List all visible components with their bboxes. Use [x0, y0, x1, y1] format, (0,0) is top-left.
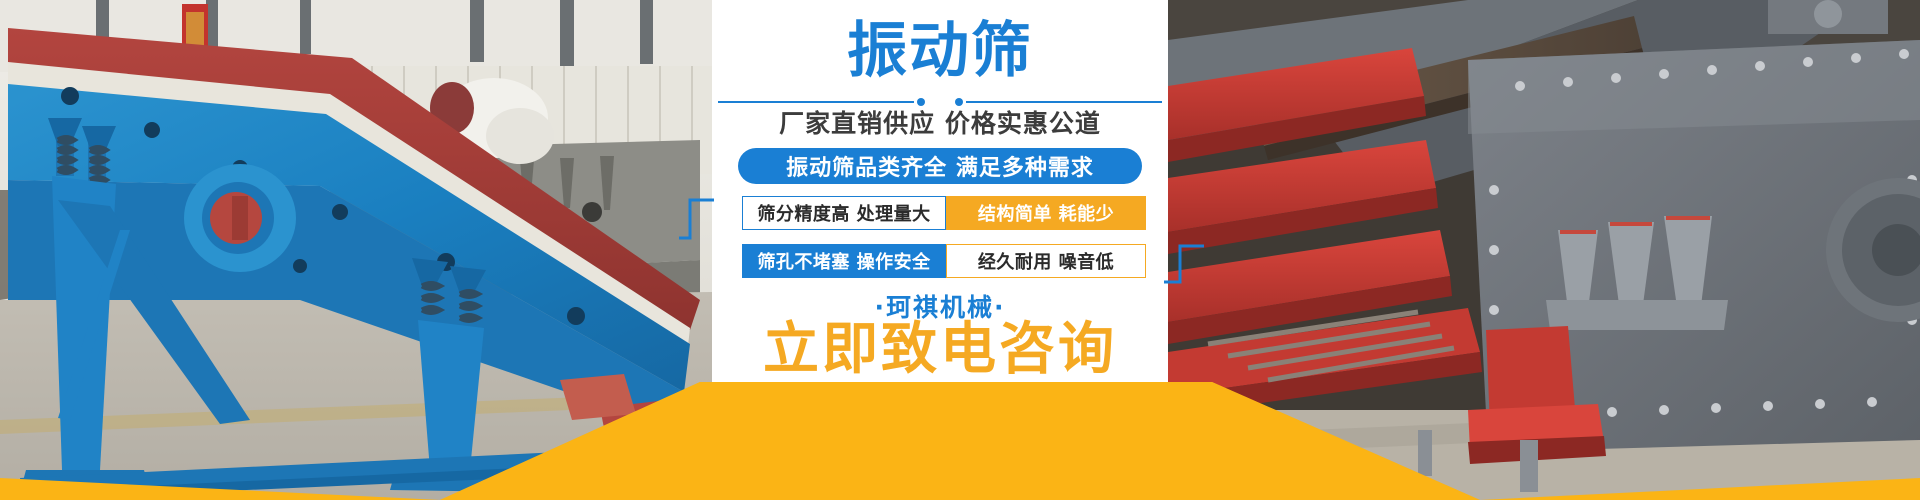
cta-text: 立即致电咨询 — [712, 318, 1168, 380]
banner-title: 振动筛 — [712, 18, 1168, 84]
promo-banner: 振动筛 厂家直销供应 价格实惠公道 振动筛品类齐全 满足多种需求 筛分精度高 处… — [0, 0, 1920, 500]
connector-elbow-left-icon — [678, 196, 714, 240]
feature-chip-1-right: 结构简单 耗能少 — [946, 196, 1146, 230]
banner-subtitle: 厂家直销供应 价格实惠公道 — [712, 104, 1168, 140]
connector-elbow-right-icon — [1164, 244, 1204, 288]
divider-right-segment — [966, 101, 1162, 103]
feature-chip-2-right: 经久耐用 噪音低 — [946, 244, 1146, 278]
highlight-pill: 振动筛品类齐全 满足多种需求 — [738, 148, 1142, 184]
feature-chip-2-left: 筛孔不堵塞 操作安全 — [742, 244, 946, 278]
feature-chip-1-left: 筛分精度高 处理量大 — [742, 196, 946, 230]
feature-row-1: 筛分精度高 处理量大 结构简单 耗能少 — [742, 196, 1146, 230]
feature-row-2: 筛孔不堵塞 操作安全 经久耐用 噪音低 — [742, 244, 1146, 278]
cta-text-knockout: 立即致电咨询 — [712, 382, 1168, 500]
divider-left-segment — [718, 101, 914, 103]
